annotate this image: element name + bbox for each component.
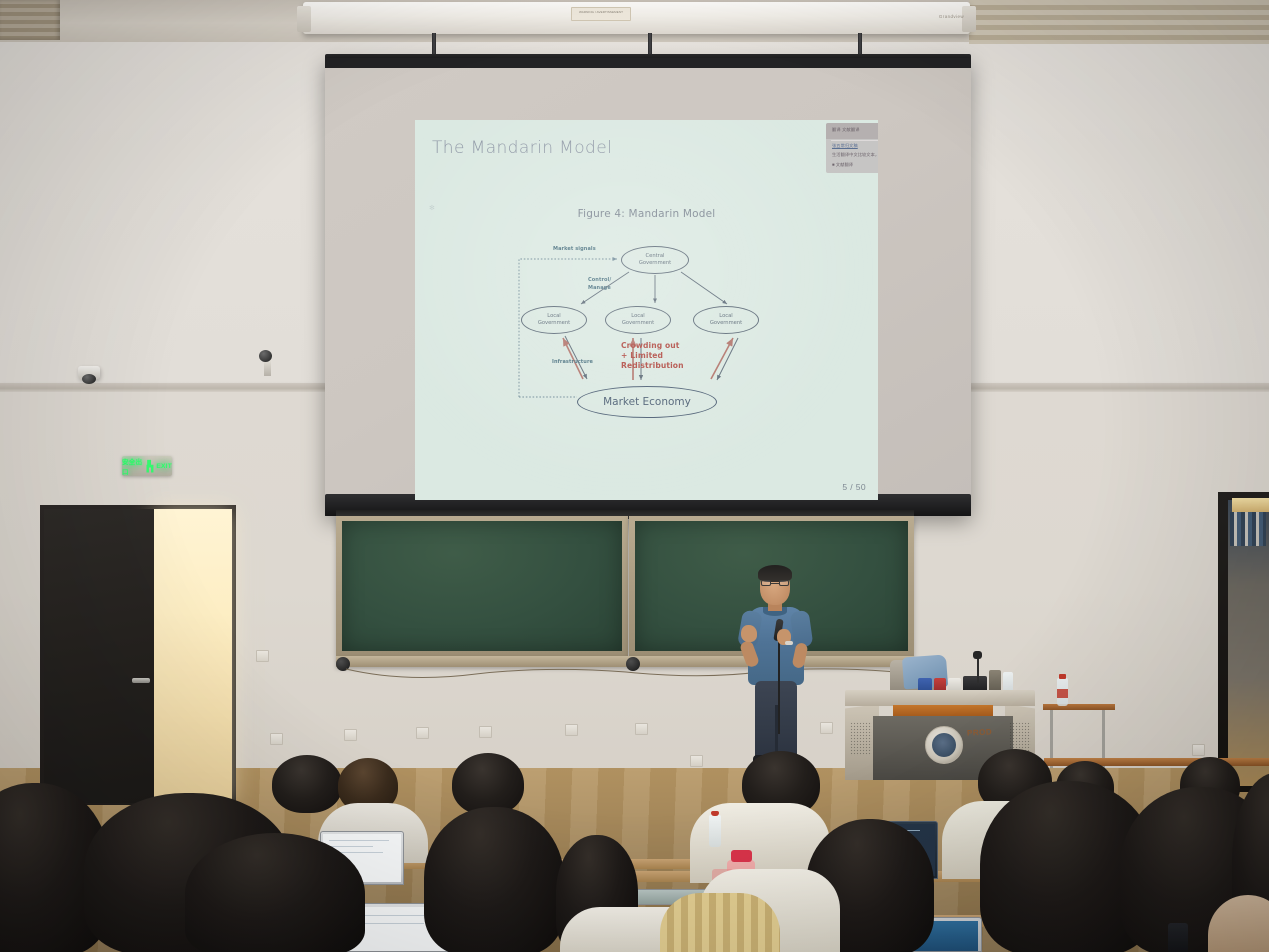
door-handle-icon[interactable] bbox=[132, 678, 150, 683]
projected-slide: The Mandarin Model ✻ Figure 4: Mandarin … bbox=[415, 120, 878, 500]
translation-overlay-window[interactable]: 翻译 文献翻译 中文 · 英文 张五常归文稿 生活翻译中文比较文本，选中：文章输… bbox=[826, 123, 878, 173]
node-line-1: Local bbox=[719, 313, 732, 320]
presenter bbox=[735, 565, 817, 770]
dome-camera-lens bbox=[82, 374, 96, 384]
bullet-camera-arm bbox=[264, 360, 271, 376]
wall-socket-2 bbox=[344, 729, 357, 741]
node-market-economy: Market Economy bbox=[577, 386, 717, 418]
node-line-2: Government bbox=[622, 320, 654, 327]
wall-socket-4 bbox=[479, 726, 492, 738]
audience-head-1 bbox=[272, 755, 342, 813]
projector-screen-housing: WARNING / AVERTISSEMENT Grandview bbox=[303, 2, 970, 34]
glasses-bridge bbox=[771, 583, 779, 584]
label-control-line-2: Manage bbox=[588, 284, 611, 292]
audience-bottle-1 bbox=[709, 815, 721, 847]
presenter-hand-left bbox=[741, 625, 757, 642]
wall-socket-6 bbox=[635, 723, 648, 735]
overlay-tab-label[interactable]: 翻译 文献翻译 bbox=[832, 127, 860, 133]
exit-sign-text-left: 安全出口 bbox=[122, 456, 144, 476]
overlay-divider bbox=[831, 140, 878, 141]
audience-bottle-1-cap bbox=[711, 811, 719, 816]
label-market-signals: Market signals bbox=[553, 246, 596, 252]
glasses-lens-right bbox=[779, 580, 789, 586]
overlay-footer-text: ■ 文献翻译 bbox=[832, 162, 853, 168]
housing-brand-text: Grandview bbox=[939, 14, 964, 19]
bottle-label bbox=[1057, 689, 1068, 698]
wall-socket-10 bbox=[270, 733, 283, 745]
audience-head-front-4 bbox=[424, 807, 564, 952]
node-local-government-3: Local Government bbox=[693, 306, 759, 334]
figure-caption: Figure 4: Mandarin Model bbox=[415, 208, 878, 220]
exit-sign: 安全出口 EXIT bbox=[122, 456, 172, 476]
node-line-1: Central bbox=[646, 253, 665, 260]
node-line-1: Local bbox=[631, 313, 644, 320]
bullet-camera-lens bbox=[259, 350, 272, 362]
wall-socket-1 bbox=[256, 650, 269, 662]
mandarin-model-diagram: Central Government Local Government Loca… bbox=[505, 246, 805, 416]
housing-cap-left bbox=[297, 6, 311, 32]
glasses-lens-left bbox=[761, 580, 771, 586]
overlay-body-text: 生活翻译中文比较文本，选中：文章输出语 bbox=[832, 152, 878, 158]
podium-brand-text: PROD bbox=[967, 727, 993, 737]
bookshelf-behind-door bbox=[1230, 512, 1266, 546]
housing-cap-right bbox=[962, 6, 976, 32]
node-line-2: Government bbox=[710, 320, 742, 327]
node-central-government: Central Government bbox=[621, 246, 689, 274]
label-crowding-out: Crowding out + Limited Redistribution bbox=[621, 341, 684, 371]
glasses-icon bbox=[761, 580, 789, 586]
chalkboard bbox=[336, 516, 914, 676]
hanging-cable bbox=[336, 666, 914, 686]
ceiling-wood-left bbox=[0, 0, 60, 40]
crowding-line-1: Crowding out bbox=[621, 341, 684, 351]
label-control-manage: Control/ Manage bbox=[588, 276, 611, 292]
door-right-window bbox=[1232, 498, 1269, 512]
slide-title: The Mandarin Model bbox=[432, 138, 612, 158]
crowding-line-3: Redistribution bbox=[621, 361, 684, 371]
ceiling-wood-right bbox=[969, 0, 1269, 44]
node-label: Market Economy bbox=[603, 396, 691, 408]
running-man-icon bbox=[146, 460, 155, 473]
audience-bottle-3-cap bbox=[731, 850, 752, 862]
chalkboard-panel-left bbox=[342, 521, 622, 651]
audience-phone[interactable] bbox=[1168, 923, 1188, 952]
podium-top-surface bbox=[845, 690, 1035, 706]
podium-microphone-head bbox=[973, 651, 982, 659]
node-local-government-1: Local Government bbox=[521, 306, 587, 334]
wall-socket-8 bbox=[820, 722, 833, 734]
overlay-link[interactable]: 张五常归文稿 bbox=[832, 143, 858, 149]
podium-microphone-stand bbox=[977, 655, 979, 683]
node-line-2: Government bbox=[538, 320, 570, 327]
audience bbox=[0, 745, 1269, 952]
crowding-line-2: + Limited bbox=[621, 351, 684, 361]
exit-sign-text-right: EXIT bbox=[156, 463, 172, 470]
wristwatch-icon bbox=[785, 641, 793, 645]
slide-page-indicator: 5 / 50 bbox=[842, 482, 866, 492]
label-control-line-1: Control/ bbox=[588, 276, 611, 284]
housing-warning-label: WARNING / AVERTISSEMENT bbox=[571, 7, 631, 21]
wall-socket-3 bbox=[416, 727, 429, 739]
lecture-hall-photo: WARNING / AVERTISSEMENT Grandview The Ma… bbox=[0, 0, 1269, 952]
node-line-2: Government bbox=[639, 260, 671, 267]
audience-head-front-3 bbox=[185, 833, 365, 952]
wall-socket-5 bbox=[565, 724, 578, 736]
audience-shoulder-front-3 bbox=[660, 893, 780, 952]
node-line-1: Local bbox=[547, 313, 560, 320]
audience-head-3 bbox=[452, 753, 524, 815]
bottle-cap-icon bbox=[1059, 674, 1066, 679]
label-infrastructure: Infrastructure bbox=[552, 359, 593, 365]
node-local-government-2: Local Government bbox=[605, 306, 671, 334]
microphone-cable bbox=[778, 639, 780, 734]
